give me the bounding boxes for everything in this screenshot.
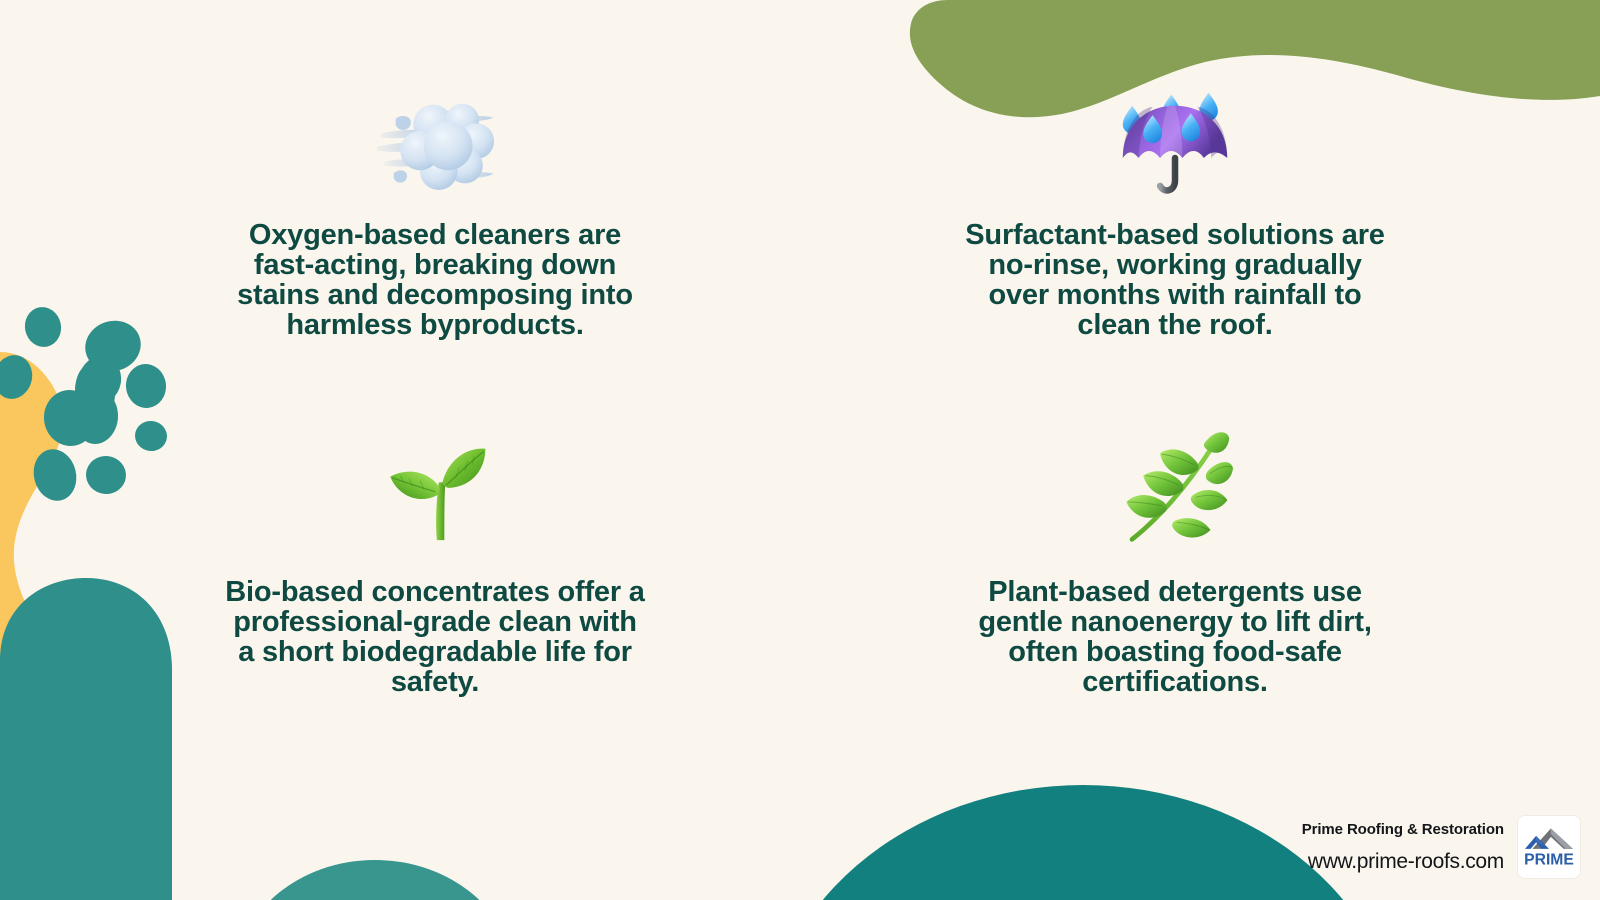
brand-name: Prime Roofing & Restoration [1302, 821, 1504, 838]
seedling-icon [365, 427, 505, 547]
card-plant-based-detergents: Plant-based detergents use gentle nanoen… [820, 405, 1510, 750]
card-text: Plant-based detergents use gentle nanoen… [965, 577, 1385, 698]
brand-footer: Prime Roofing & Restoration www.prime-ro… [1302, 816, 1580, 878]
brand-website-url[interactable]: www.prime-roofs.com [1308, 850, 1504, 874]
card-text: Oxygen-based cleaners are fast-acting, b… [225, 220, 645, 341]
card-bio-based-concentrates: Bio-based concentrates offer a professio… [90, 405, 780, 750]
prime-logo[interactable]: PRIME [1518, 816, 1580, 878]
card-text: Surfactant-based solutions are no-rinse,… [965, 220, 1385, 341]
card-surfactant-based-solutions: Surfactant-based solutions are no-rinse,… [820, 60, 1510, 405]
infographic-canvas: Oxygen-based cleaners are fast-acting, b… [0, 0, 1600, 900]
herb-leaves-icon [1105, 427, 1245, 547]
card-grid: Oxygen-based cleaners are fast-acting, b… [0, 0, 1600, 900]
dashing-away-icon [365, 84, 505, 204]
card-text: Bio-based concentrates offer a professio… [225, 577, 645, 698]
brand-text-block: Prime Roofing & Restoration www.prime-ro… [1302, 821, 1504, 874]
umbrella-with-rain-icon [1105, 84, 1245, 204]
prime-logo-text: PRIME [1524, 852, 1574, 869]
card-oxygen-based-cleaners: Oxygen-based cleaners are fast-acting, b… [90, 60, 780, 405]
